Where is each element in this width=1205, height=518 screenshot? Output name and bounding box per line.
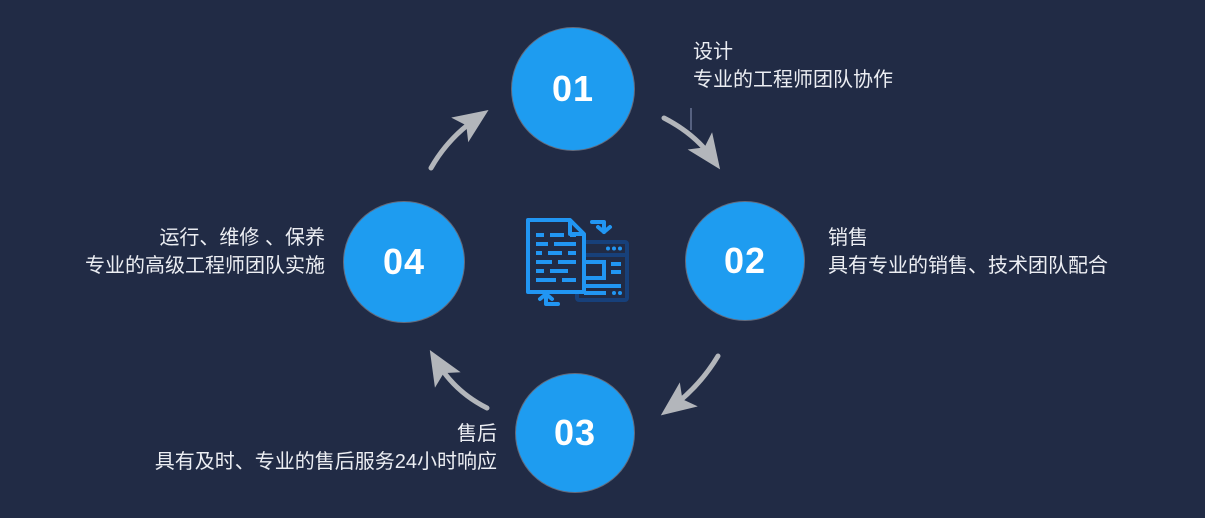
step-circle-01[interactable]: 01	[512, 28, 634, 150]
arrow-02-to-03	[672, 356, 718, 407]
step-label-02: 销售 具有专业的销售、技术团队配合	[828, 224, 1108, 281]
step-description-01: 专业的工程师团队协作	[693, 66, 893, 94]
step-circle-03[interactable]: 03	[516, 374, 634, 492]
step-number-01: 01	[552, 71, 594, 107]
document-sync-icon	[522, 210, 630, 314]
step-number-02: 02	[724, 243, 766, 279]
step-circle-04[interactable]: 04	[344, 202, 464, 322]
step-title-03: 售后	[155, 420, 497, 448]
step-title-04: 运行、维修 、保养	[85, 224, 325, 252]
step-title-02: 销售	[828, 224, 1108, 252]
arrow-04-to-01	[431, 118, 477, 168]
step-label-04: 运行、维修 、保养 专业的高级工程师团队实施	[85, 224, 325, 281]
step-description-04: 专业的高级工程师团队实施	[85, 252, 325, 280]
step-description-03: 具有及时、专业的售后服务24小时响应	[155, 448, 497, 476]
step-label-01: 设计 专业的工程师团队协作	[693, 38, 893, 95]
step-circle-02[interactable]: 02	[686, 202, 804, 320]
divider-tick	[690, 108, 692, 130]
arrow-01-to-02	[664, 118, 712, 158]
step-number-03: 03	[554, 415, 596, 451]
step-number-04: 04	[383, 244, 425, 280]
step-description-02: 具有专业的销售、技术团队配合	[828, 252, 1108, 280]
cycle-diagram-canvas: 01 02 03 04 设计 专业的工程师团队协作 销售 具有专业的销售、技术团…	[0, 0, 1205, 518]
step-label-03: 售后 具有及时、专业的售后服务24小时响应	[155, 420, 497, 477]
arrow-03-to-04	[437, 362, 487, 408]
step-title-01: 设计	[693, 38, 893, 66]
